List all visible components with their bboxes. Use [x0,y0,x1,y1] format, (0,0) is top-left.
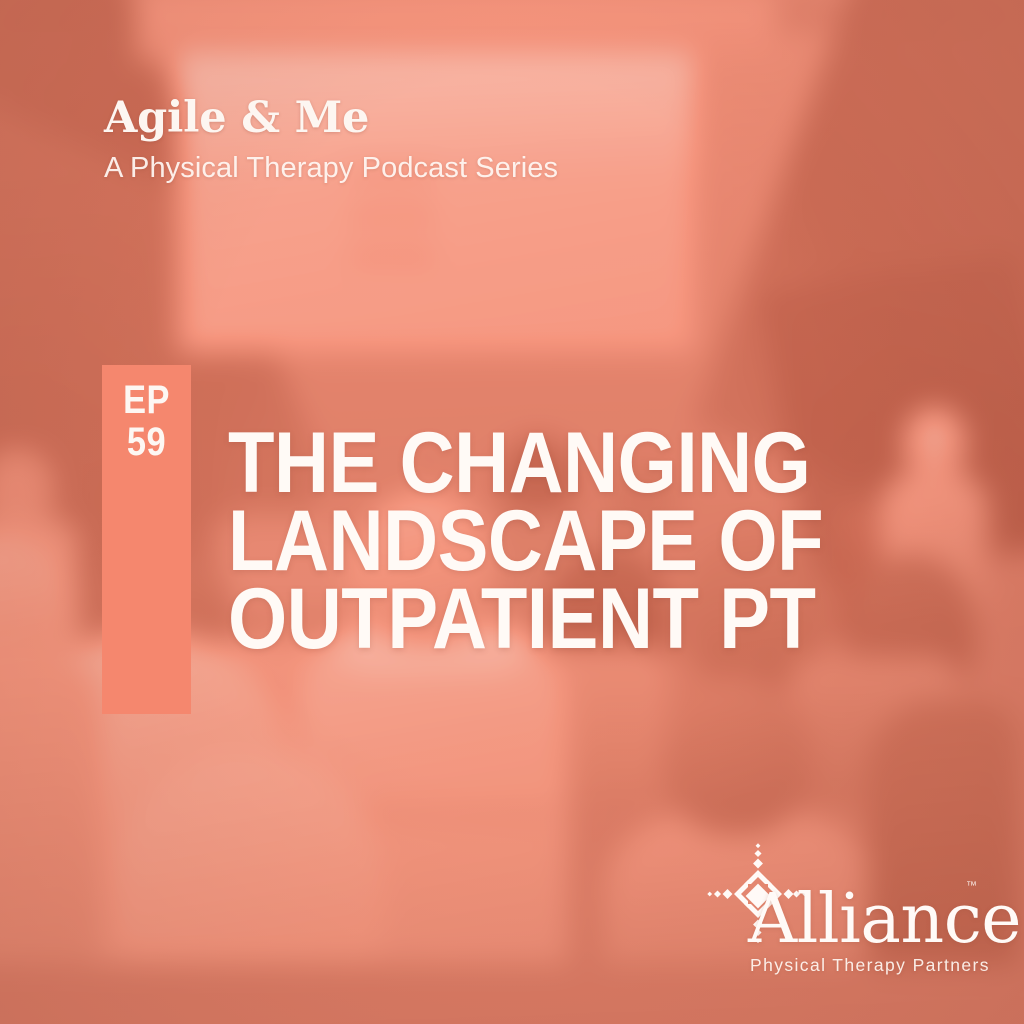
episode-title-line-1: The Changing [228,424,927,502]
alliance-wordmark: Alliance [748,886,1021,954]
show-branding: Agile & Me A Physical Therapy Podcast Se… [104,96,864,185]
episode-number-badge: EP 59 [102,365,191,714]
trademark-symbol: ™ [966,880,977,892]
episode-badge-label: EP [108,379,185,421]
alliance-tagline: Physical Therapy Partners [750,955,990,976]
episode-title: The Changing Landscape of Outpatient PT [228,424,1018,658]
cover-content: Agile & Me A Physical Therapy Podcast Se… [0,0,1024,1024]
alliance-logo: Alliance ™ Physical Therapy Partners [698,842,998,992]
episode-badge-number: 59 [108,421,185,463]
episode-title-line-2: Landscape of [228,502,927,580]
episode-badge-text-group: EP 59 [102,379,191,464]
show-subtitle: A Physical Therapy Podcast Series [104,153,864,185]
podcast-cover-artwork: Agile & Me A Physical Therapy Podcast Se… [0,0,1024,1024]
show-title: Agile & Me [104,96,864,141]
episode-title-line-3: Outpatient PT [228,580,927,658]
